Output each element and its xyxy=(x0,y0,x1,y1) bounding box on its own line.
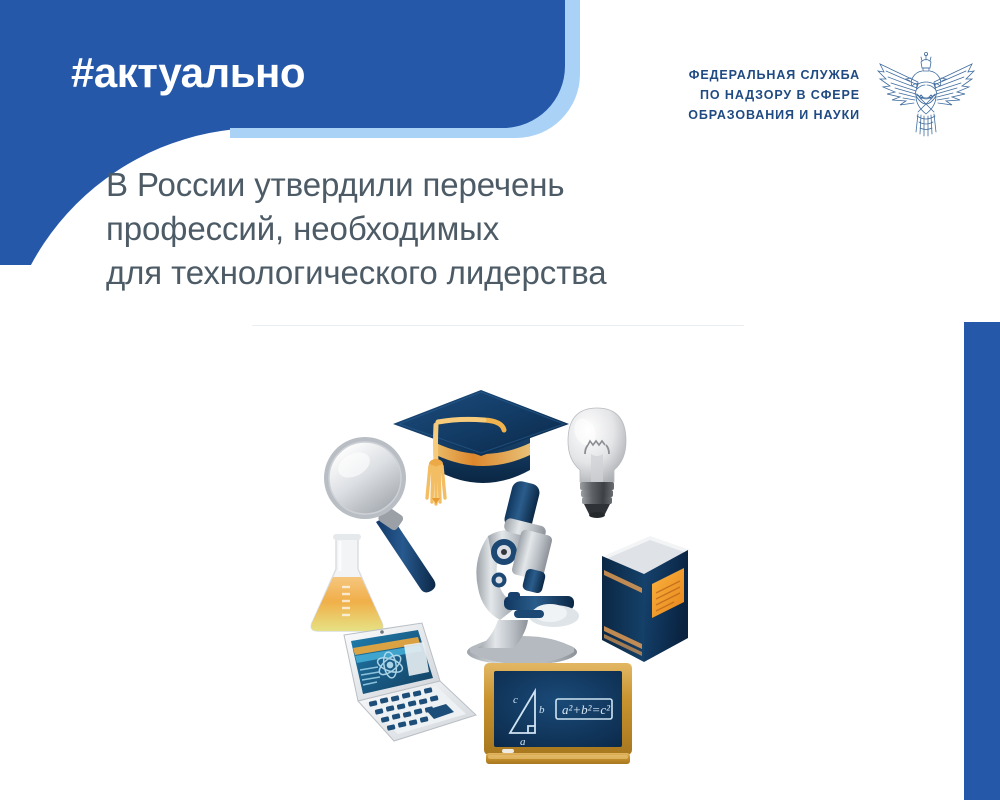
right-accent-bar xyxy=(964,322,1000,800)
laptop-icon xyxy=(328,615,488,765)
headline-line-1: В России утвердили перечень xyxy=(106,163,846,207)
headline-line-2: профессий, необходимых xyxy=(106,207,846,251)
blackboard-side-a-label: a xyxy=(520,736,526,748)
agency-logo: ФЕДЕРАЛЬНАЯ СЛУЖБА ПО НАДЗОРУ В СФЕРЕ ОБ… xyxy=(688,52,978,138)
double-headed-eagle-emblem-icon xyxy=(874,52,978,138)
agency-logo-text: ФЕДЕРАЛЬНАЯ СЛУЖБА ПО НАДЗОРУ В СФЕРЕ ОБ… xyxy=(688,65,860,126)
headline-line-3: для технологического лидерства xyxy=(106,251,846,295)
agency-logo-line-2: ПО НАДЗОРУ В СФЕРЕ xyxy=(688,85,860,105)
blackboard-formula-label: a²+b²=c² xyxy=(562,702,611,717)
announcement-card: #актуально ФЕДЕРАЛЬНАЯ СЛУЖБА ПО НАДЗОРУ… xyxy=(0,0,1000,800)
divider xyxy=(252,325,744,326)
blackboard-side-b-label: b xyxy=(539,704,545,716)
hashtag-label: #актуально xyxy=(71,49,305,97)
blackboard-icon: c b a a²+b²=c² xyxy=(478,655,638,785)
agency-logo-line-1: ФЕДЕРАЛЬНАЯ СЛУЖБА xyxy=(688,65,860,85)
headline: В России утвердили перечень профессий, н… xyxy=(106,163,846,296)
blackboard-side-c-label: c xyxy=(513,694,518,706)
agency-logo-line-3: ОБРАЗОВАНИЯ И НАУКИ xyxy=(688,105,860,125)
illustration-collage: c b a a²+b²=c² xyxy=(280,370,700,790)
book-icon xyxy=(588,530,698,670)
